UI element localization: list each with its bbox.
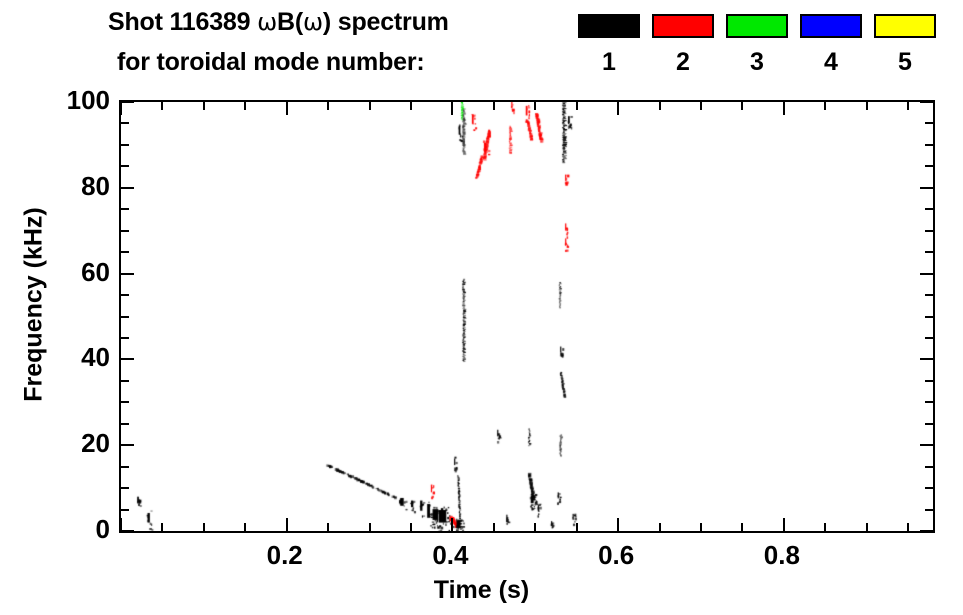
x-tick-bottom-0 [120,518,122,531]
x-tick-bottom-0.05 [161,523,163,531]
y-tick-right-15 [925,466,933,468]
title-spectrum-text: ) spectrum [323,8,449,36]
x-tick-bottom-0.7 [700,523,702,531]
y-tick-right-55 [925,294,933,296]
y-tick-left-55 [121,294,129,296]
x-tick-top-0.95 [907,102,909,110]
legend-swatch-1 [578,14,640,38]
y-tick-left-25 [121,423,129,425]
legend-entry-5: 5 [874,14,940,86]
y-axis-title: Frequency (kHz) [20,175,49,435]
legend-label-1: 1 [578,48,640,76]
x-tick-label-0.2: 0.2 [240,540,330,570]
y-tick-left-80 [121,187,134,189]
x-tick-top-0 [120,102,122,115]
legend: 12345 [578,14,950,86]
plot-title-line-1: Shot 116389 ωB(ω) spectrum [108,8,449,37]
y-tick-right-0 [920,530,933,532]
y-tick-left-10 [121,487,129,489]
x-tick-top-0.6 [617,102,619,115]
x-tick-label-0.4: 0.4 [405,540,495,570]
x-tick-top-0.4 [451,102,453,115]
legend-label-2: 2 [652,48,714,76]
y-tick-left-60 [121,273,134,275]
y-tick-right-65 [925,251,933,253]
y-tick-left-95 [121,122,129,124]
y-tick-right-80 [920,187,933,189]
title-b-text: B( [277,8,303,36]
spectrogram-area [121,102,933,531]
y-tick-right-35 [925,380,933,382]
y-tick-right-90 [925,144,933,146]
x-tick-bottom-0.5 [534,523,536,531]
y-tick-left-40 [121,358,134,360]
y-tick-left-0 [121,530,134,532]
legend-swatch-4 [800,14,862,38]
x-tick-bottom-0.4 [451,518,453,531]
x-tick-bottom-0.75 [741,523,743,531]
legend-entry-4: 4 [800,14,866,86]
x-tick-top-0.75 [741,102,743,110]
y-tick-right-75 [925,208,933,210]
x-tick-top-0.1 [203,102,205,110]
spectrogram-canvas [121,102,933,531]
x-tick-top-0.15 [244,102,246,110]
x-tick-bottom-0.55 [576,523,578,531]
y-tick-left-20 [121,444,134,446]
x-tick-top-0.25 [327,102,329,110]
y-tick-left-100 [121,101,134,103]
y-tick-right-100 [920,101,933,103]
x-tick-bottom-0.65 [659,523,661,531]
x-tick-bottom-0.85 [824,523,826,531]
legend-label-5: 5 [874,48,936,76]
legend-swatch-3 [726,14,788,38]
x-tick-top-0.05 [161,102,163,110]
plot-frame [119,100,935,533]
x-tick-bottom-0.9 [866,523,868,531]
x-tick-label-0.6: 0.6 [571,540,661,570]
x-tick-top-0.65 [659,102,661,110]
x-tick-top-0.85 [824,102,826,110]
y-tick-right-70 [925,230,933,232]
legend-entry-3: 3 [726,14,792,86]
y-tick-right-50 [925,316,933,318]
legend-label-3: 3 [726,48,788,76]
x-tick-top-0.55 [576,102,578,110]
x-axis-tick-labels: 0.20.40.60.8 [119,540,935,576]
x-tick-top-0.2 [286,102,288,115]
x-tick-top-0.5 [534,102,536,110]
y-tick-right-30 [925,401,933,403]
y-tick-right-45 [925,337,933,339]
x-tick-top-0.7 [700,102,702,110]
title-shot-text: Shot 116389 [108,8,257,36]
y-tick-left-50 [121,316,129,318]
x-axis-title: Time (s) [0,576,963,605]
y-tick-left-75 [121,208,129,210]
x-tick-top-0.35 [410,102,412,110]
y-tick-right-20 [920,444,933,446]
y-tick-left-5 [121,509,129,511]
legend-entry-2: 2 [652,14,718,86]
y-tick-left-90 [121,144,129,146]
x-tick-bottom-0.2 [286,518,288,531]
x-tick-top-0.45 [493,102,495,110]
legend-entry-1: 1 [578,14,644,86]
y-tick-right-85 [925,165,933,167]
legend-swatch-5 [874,14,936,38]
y-tick-label-0: 0 [24,516,110,542]
x-tick-label-0.8: 0.8 [737,540,827,570]
y-tick-right-60 [920,273,933,275]
figure-root: Shot 116389 ωB(ω) spectrum for toroidal … [0,0,963,615]
x-tick-bottom-0.15 [244,523,246,531]
y-tick-right-40 [920,358,933,360]
y-tick-left-15 [121,466,129,468]
y-tick-left-35 [121,380,129,382]
y-tick-left-70 [121,230,129,232]
y-tick-right-5 [925,509,933,511]
omega-symbol-2: ω [303,8,323,36]
x-tick-top-0.8 [783,102,785,115]
y-tick-right-95 [925,122,933,124]
x-tick-bottom-0.25 [327,523,329,531]
y-tick-left-45 [121,337,129,339]
y-tick-left-85 [121,165,129,167]
omega-symbol-1: ω [257,8,277,36]
legend-label-4: 4 [800,48,862,76]
x-tick-bottom-0.35 [410,523,412,531]
x-tick-bottom-0.95 [907,523,909,531]
x-tick-bottom-0.6 [617,518,619,531]
y-tick-right-25 [925,423,933,425]
x-tick-top-0.3 [369,102,371,110]
legend-swatch-2 [652,14,714,38]
y-tick-left-65 [121,251,129,253]
y-tick-left-30 [121,401,129,403]
plot-title-line-2: for toroidal mode number: [117,48,425,77]
x-tick-bottom-0.1 [203,523,205,531]
x-tick-bottom-0.8 [783,518,785,531]
x-tick-top-0.9 [866,102,868,110]
y-tick-label-100: 100 [24,87,110,113]
y-tick-right-10 [925,487,933,489]
x-tick-bottom-0.3 [369,523,371,531]
x-tick-bottom-0.45 [493,523,495,531]
